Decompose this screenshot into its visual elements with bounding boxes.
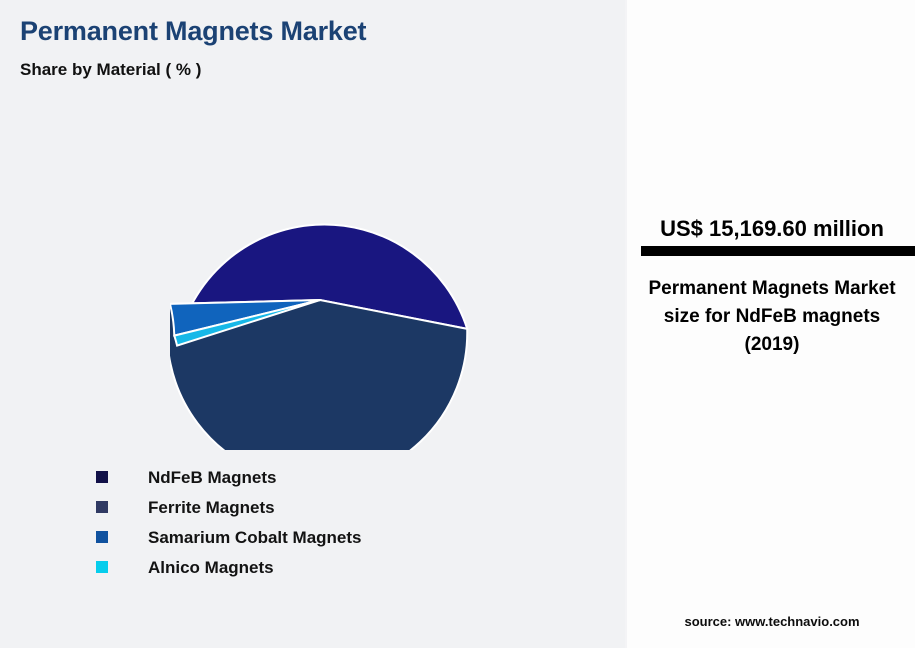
kpi-panel: US$ 15,169.60 million Permanent Magnets …: [625, 0, 915, 648]
legend-item-label: Samarium Cobalt Magnets: [148, 529, 362, 546]
legend-swatch-icon: [96, 501, 108, 513]
pie-chart-svg: [170, 150, 470, 450]
legend-item-label: NdFeB Magnets: [148, 469, 276, 486]
chart-page: Permanent Magnets Market Share by Materi…: [0, 0, 915, 648]
chart-panel: Permanent Magnets Market Share by Materi…: [0, 0, 625, 648]
page-title: Permanent Magnets Market: [20, 16, 366, 47]
chart-subtitle: Share by Material ( % ): [20, 60, 201, 80]
legend-item[interactable]: Samarium Cobalt Magnets: [96, 522, 596, 552]
legend-swatch-icon: [96, 561, 108, 573]
chart-legend: NdFeB MagnetsFerrite MagnetsSamarium Cob…: [96, 462, 596, 582]
legend-swatch-icon: [96, 471, 108, 483]
legend-item[interactable]: NdFeB Magnets: [96, 462, 596, 492]
legend-item-label: Alnico Magnets: [148, 559, 274, 576]
kpi-divider: [641, 246, 915, 256]
kpi-value: US$ 15,169.60 million: [627, 216, 915, 242]
legend-swatch-icon: [96, 531, 108, 543]
kpi-caption: Permanent Magnets Market size for NdFeB …: [645, 275, 899, 359]
legend-item-label: Ferrite Magnets: [148, 499, 275, 516]
legend-item[interactable]: Ferrite Magnets: [96, 492, 596, 522]
source-note: source: www.technavio.com: [627, 614, 915, 629]
legend-item[interactable]: Alnico Magnets: [96, 552, 596, 582]
pie-chart: [170, 150, 470, 450]
